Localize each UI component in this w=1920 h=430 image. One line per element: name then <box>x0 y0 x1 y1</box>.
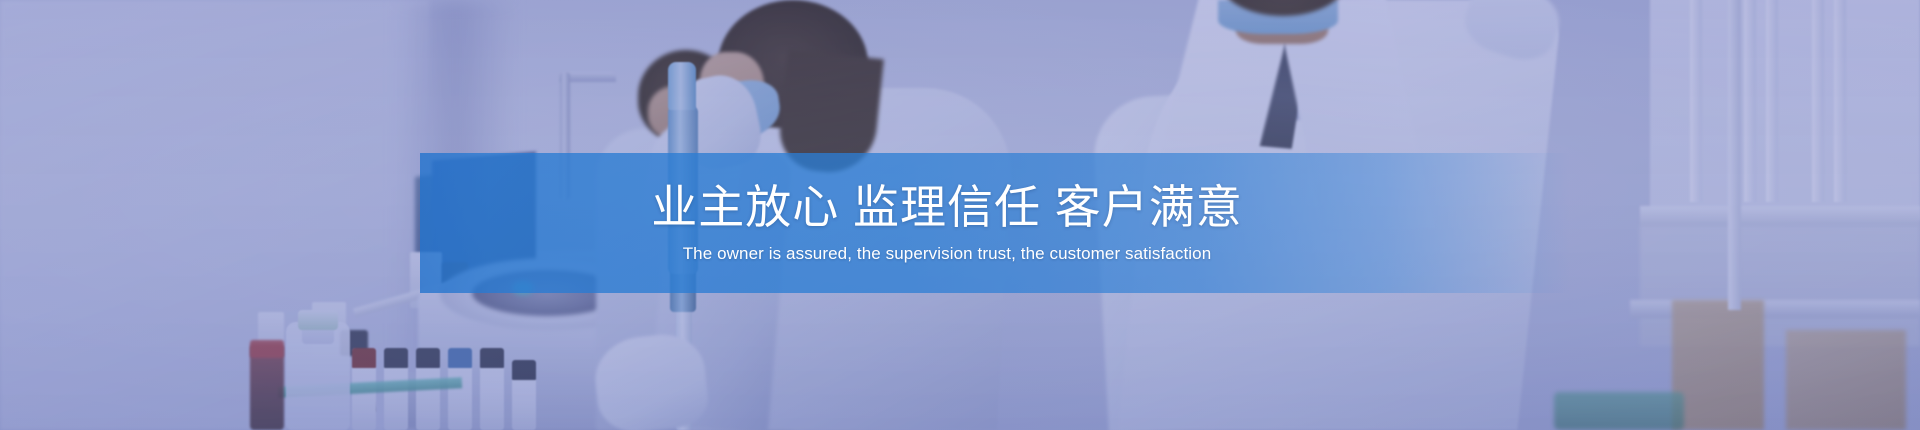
caption-band-content: 业主放心 监理信任 客户满意 The owner is assured, the… <box>420 153 1570 293</box>
caption-band: 业主放心 监理信任 客户满意 The owner is assured, the… <box>420 153 1570 293</box>
hero-banner: 业主放心 监理信任 客户满意 The owner is assured, the… <box>0 0 1920 430</box>
banner-subheadline: The owner is assured, the supervision tr… <box>683 243 1212 264</box>
banner-headline: 业主放心 监理信任 客户满意 <box>651 182 1243 234</box>
